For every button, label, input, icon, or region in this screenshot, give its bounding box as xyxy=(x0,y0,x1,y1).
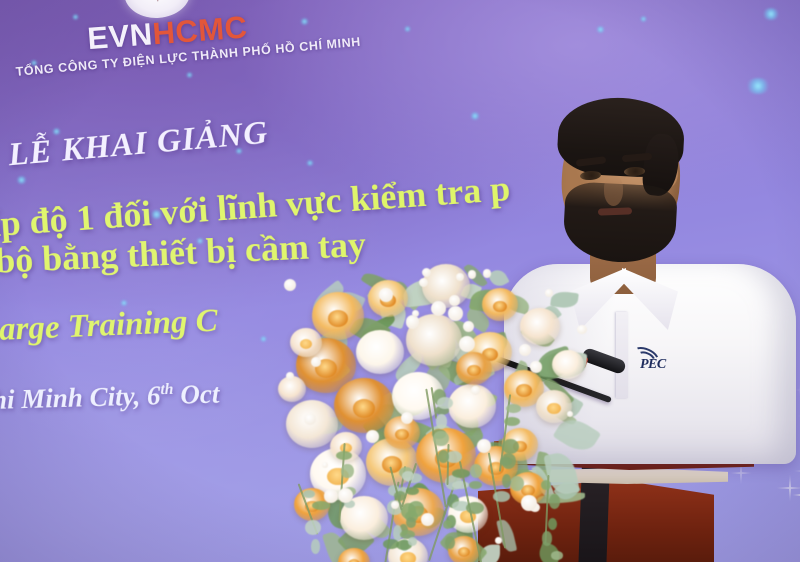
filler-bud xyxy=(421,513,434,526)
flower-center xyxy=(516,384,531,397)
eucalyptus-leaf xyxy=(406,487,419,495)
filler-bud xyxy=(284,279,296,291)
flower-center xyxy=(547,403,561,414)
eucalyptus-leaf xyxy=(341,464,353,479)
filler-bud xyxy=(391,501,399,509)
filler-bud xyxy=(521,495,537,511)
slide-line-english: charge Training C xyxy=(0,303,218,351)
eucalyptus-leaf xyxy=(438,450,449,463)
foliage-leaf xyxy=(550,290,579,309)
filler-bud xyxy=(448,306,463,321)
flower-center xyxy=(395,429,409,440)
filler-bud xyxy=(449,295,460,306)
flower-center xyxy=(328,310,348,326)
eucalyptus-leaf xyxy=(548,518,557,530)
eucalyptus-leaf xyxy=(311,539,321,554)
speaker-mouth xyxy=(598,207,632,215)
flower-blossom xyxy=(356,330,404,374)
eucalyptus-leaf xyxy=(433,431,448,446)
eucalyptus-leaf xyxy=(436,414,448,428)
filler-bud xyxy=(304,413,316,425)
eucalyptus-leaf xyxy=(466,502,484,514)
eucalyptus-leaf xyxy=(408,537,418,546)
place-date-superscript: th xyxy=(160,381,174,398)
eucalyptus-leaf xyxy=(445,536,455,548)
eucalyptus-leaf xyxy=(336,451,352,460)
place-date-main: Chi Minh City, 6 xyxy=(0,380,161,415)
eucalyptus-leaf xyxy=(551,551,562,560)
filler-bud xyxy=(468,270,476,278)
filler-bud xyxy=(577,325,586,334)
pec-chest-logo-icon: PEC xyxy=(624,348,680,378)
flower-arrangement xyxy=(268,258,598,558)
flower-center xyxy=(400,552,415,562)
eucalyptus-leaf xyxy=(504,417,521,426)
screenshot-root: EVNHCMC TỔNG CÔNG TY ĐIỆN LỰC THÀNH PHỐ … xyxy=(0,0,800,562)
filler-bud xyxy=(519,344,531,356)
flower-center xyxy=(493,301,507,312)
eucalyptus-leaf xyxy=(493,491,510,502)
filler-bud xyxy=(311,357,321,367)
eucalyptus-leaf xyxy=(443,520,452,529)
filler-bud xyxy=(495,537,502,544)
eucalyptus-leaf xyxy=(437,397,453,409)
filler-bud xyxy=(530,361,541,372)
flower-center xyxy=(467,365,481,376)
eucalyptus-leaf xyxy=(305,520,320,535)
eucalyptus-leaf xyxy=(506,404,521,413)
filler-bud xyxy=(471,386,479,394)
filler-bud xyxy=(431,301,446,316)
eucalyptus-leaf xyxy=(549,494,560,509)
pec-logo-text: PEC xyxy=(640,357,666,373)
filler-bud xyxy=(379,288,393,302)
eucalyptus-leaf xyxy=(469,481,482,489)
filler-bud xyxy=(412,310,419,317)
eucalyptus-leaf xyxy=(406,517,416,528)
filler-bud xyxy=(286,372,294,380)
filler-bud xyxy=(338,488,353,503)
slide-line-place-date: Chi Minh City, 6th Oct xyxy=(0,379,220,417)
eucalyptus-leaf xyxy=(408,501,423,516)
slide-heading: LỄ KHAI GIẢNG xyxy=(7,115,270,175)
place-date-tail: Oct xyxy=(173,379,220,410)
filler-bud xyxy=(366,430,379,443)
flower-blossom xyxy=(520,308,560,345)
filler-bud xyxy=(459,336,475,352)
flower-blossom xyxy=(552,350,584,379)
filler-bud xyxy=(324,489,338,503)
eucalyptus-leaf xyxy=(402,471,414,480)
flower-blossom xyxy=(278,376,306,402)
speaker-nose xyxy=(604,176,623,206)
